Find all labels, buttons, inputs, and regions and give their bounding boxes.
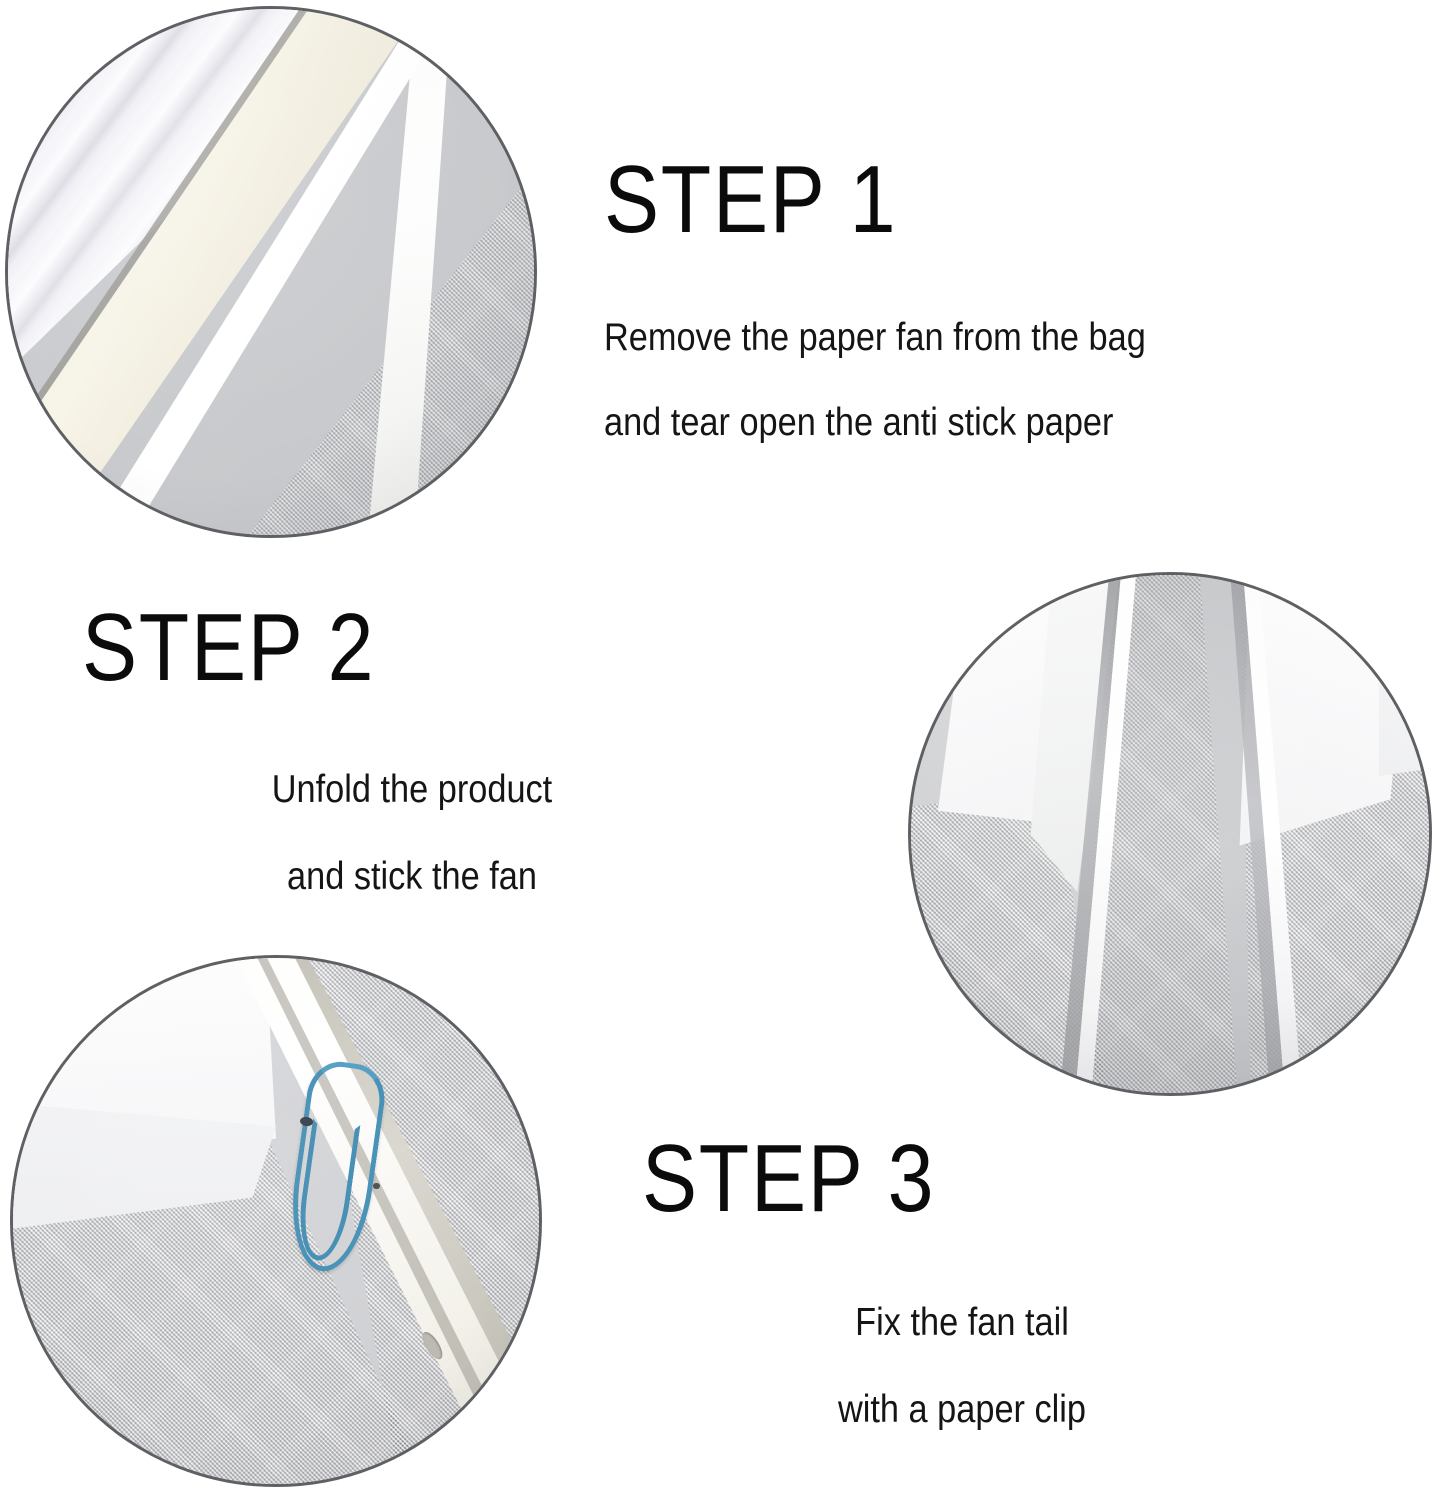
step-2-text-block: STEP 2 Unfold the product and stick the … (82, 600, 742, 896)
step-3-heading: STEP 3 (642, 1131, 1192, 1227)
step-2-heading: STEP 2 (82, 600, 650, 696)
step-1-photo (5, 6, 537, 538)
step-1-body-line-2: and tear open the anti stick paper (604, 403, 1146, 442)
step-3-photo-content (10, 955, 542, 1487)
photo-vignette (10, 955, 542, 1487)
step-3-text-block: STEP 3 Fix the fan tail with a paper cli… (642, 1131, 1282, 1429)
step-2-body-line-2: and stick the fan (122, 857, 703, 896)
step-1-heading: STEP 1 (604, 152, 1134, 248)
step-1-body-line-1: Remove the paper fan from the bag (604, 318, 1146, 357)
step-2-body-line-1: Unfold the product (122, 770, 703, 809)
step-3-photo (10, 955, 542, 1487)
step-3-body-line-1: Fix the fan tail (680, 1303, 1243, 1342)
photo-vignette (5, 6, 537, 538)
step-2-photo-content (908, 572, 1432, 1096)
instruction-sheet: STEP 1 Remove the paper fan from the bag… (0, 0, 1441, 1500)
step-3-body-line-2: with a paper clip (680, 1390, 1243, 1429)
photo-vignette (908, 572, 1432, 1096)
step-1-photo-content (5, 6, 537, 538)
step-2-photo (908, 572, 1432, 1096)
step-1-text-block: STEP 1 Remove the paper fan from the bag… (604, 152, 1220, 442)
